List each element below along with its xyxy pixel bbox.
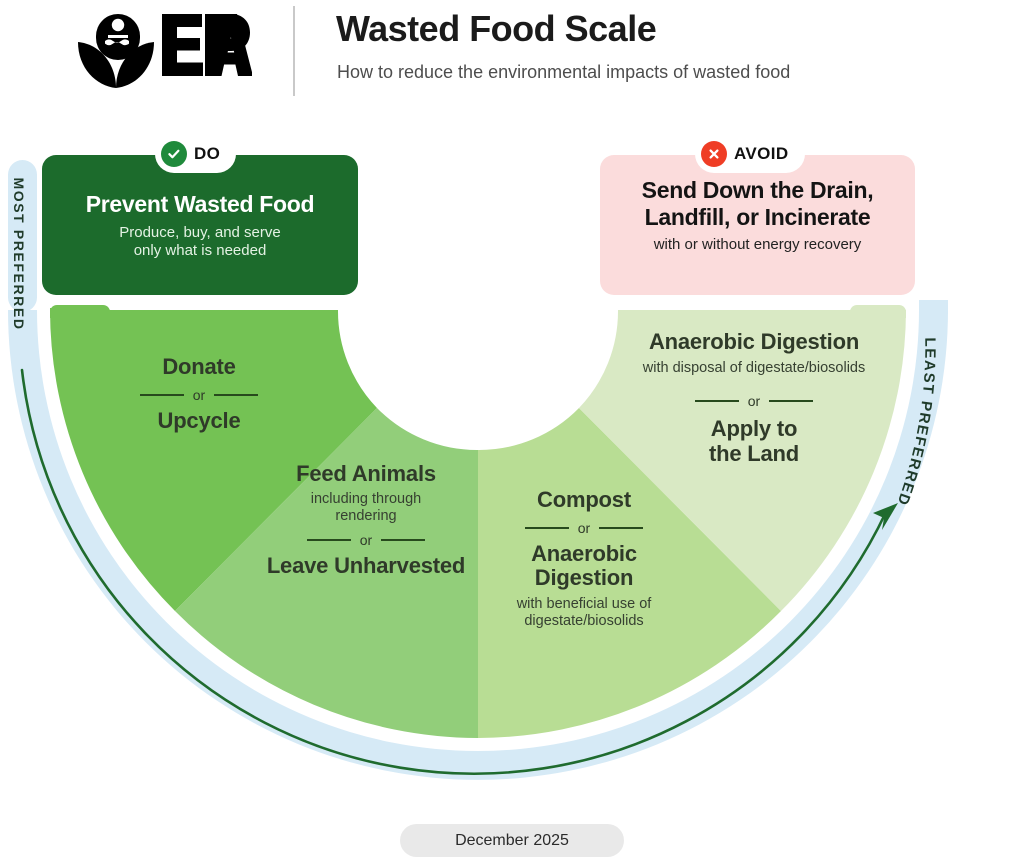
feed-note-line2: rendering: [266, 508, 466, 525]
or-line-left: [695, 400, 739, 402]
compost-note: with beneficial use of digestate/biosoli…: [486, 596, 682, 631]
segment-label-anaerobic-digestion-land: Anaerobic Digestion with disposal of dig…: [598, 330, 910, 466]
ad-note: with disposal of digestate/biosolids: [598, 360, 910, 377]
donate-option-b: Upcycle: [96, 409, 302, 434]
arc-band-right-cap: [919, 300, 948, 314]
or-divider-donate: or: [96, 387, 302, 403]
or-text: or: [193, 387, 205, 403]
donate-option-a: Donate: [96, 355, 302, 380]
segment-label-feed-animals: Feed Animals including through rendering…: [266, 462, 466, 579]
ad-option-b-line2: the Land: [598, 442, 910, 467]
or-line-left: [307, 539, 351, 541]
compost-option-a: Compost: [486, 488, 682, 513]
or-divider-compost: or: [486, 520, 682, 536]
date-badge: December 2025: [400, 824, 624, 857]
feed-note: including through rendering: [266, 491, 466, 526]
feed-option-b: Leave Unharvested: [266, 554, 466, 579]
compost-note-line2: digestate/biosolids: [486, 613, 682, 630]
or-line-left: [525, 527, 569, 529]
card-avoid-subtitle: with or without energy recovery: [600, 230, 915, 255]
card-avoid-title-line2: Landfill, or Incinerate: [600, 204, 915, 231]
compost-note-line1: with beneficial use of: [486, 596, 682, 613]
or-divider-ad: or: [598, 393, 910, 409]
feed-note-line1: including through: [266, 491, 466, 508]
compost-option-b: Anaerobic Digestion: [486, 542, 682, 591]
or-text: or: [360, 532, 372, 548]
card-do-subtitle-line2: only what is needed: [42, 242, 358, 261]
ad-option-b: Apply to the Land: [598, 417, 910, 466]
or-line-right: [599, 527, 643, 529]
card-do-subtitle: Produce, buy, and serve only what is nee…: [42, 218, 358, 262]
wasted-food-scale-infographic: Wasted Food Scale How to reduce the envi…: [0, 0, 1024, 861]
or-divider-feed: or: [266, 532, 466, 548]
card-send-down-drain[interactable]: Send Down the Drain, Landfill, or Incine…: [600, 155, 915, 295]
x-icon: [701, 141, 727, 167]
badge-do: DO: [155, 135, 236, 173]
segment-4-top-round: [850, 305, 906, 319]
or-line-left: [140, 394, 184, 396]
ad-option-a: Anaerobic Digestion: [598, 330, 910, 355]
badge-avoid: AVOID: [695, 135, 805, 173]
badge-do-label: DO: [194, 144, 220, 164]
check-icon: [161, 141, 187, 167]
segment-label-donate-upcycle: Donate or Upcycle: [96, 355, 302, 433]
badge-avoid-label: AVOID: [734, 144, 789, 164]
feed-option-a: Feed Animals: [266, 462, 466, 487]
card-do-subtitle-line1: Produce, buy, and serve: [42, 224, 358, 243]
or-line-right: [381, 539, 425, 541]
card-avoid-title-line1: Send Down the Drain,: [600, 177, 915, 204]
segment-label-compost: Compost or Anaerobic Digestion with bene…: [486, 488, 682, 631]
or-line-right: [214, 394, 258, 396]
ad-option-b-line1: Apply to: [598, 417, 910, 442]
segment-1-top-round: [50, 305, 110, 319]
most-preferred-label: MOST PREFERRED: [11, 164, 27, 344]
or-text: or: [578, 520, 590, 536]
or-text: or: [748, 393, 760, 409]
or-line-right: [769, 400, 813, 402]
card-prevent-wasted-food[interactable]: Prevent Wasted Food Produce, buy, and se…: [42, 155, 358, 295]
